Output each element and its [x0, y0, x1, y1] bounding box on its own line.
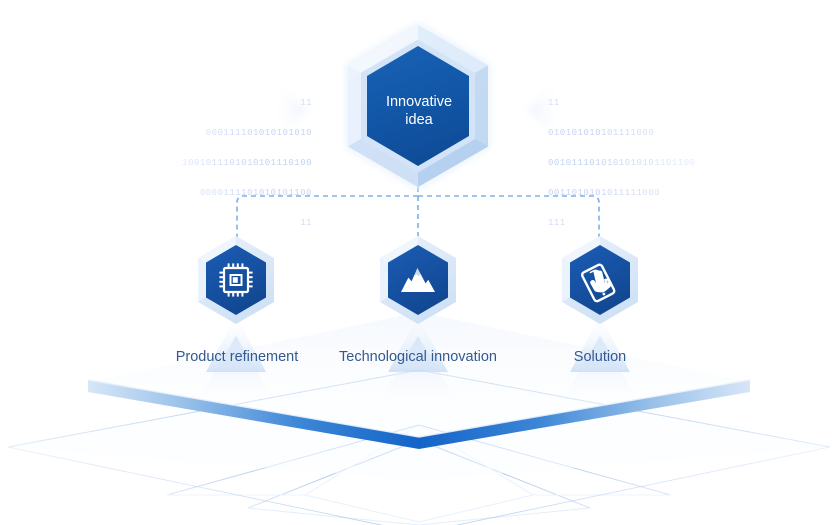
infographic-canvas: 11 000111101010101010 100101110101010111…: [0, 0, 832, 525]
binary-arrow-head-right: [528, 78, 560, 142]
node-caption-product-refinement: Product refinement: [137, 348, 337, 366]
binary-arrow-head-left: [274, 78, 306, 142]
node-hit-area-solution[interactable]: [562, 236, 638, 324]
node-hit-area-product-refinement[interactable]: [198, 236, 274, 324]
node-caption-solution: Solution: [500, 348, 700, 366]
node-caption-technological-innovation: Technological innovation: [318, 348, 518, 366]
node-hit-area-technological-innovation[interactable]: [380, 236, 456, 324]
main-hexagon-hit-area[interactable]: [346, 25, 490, 187]
